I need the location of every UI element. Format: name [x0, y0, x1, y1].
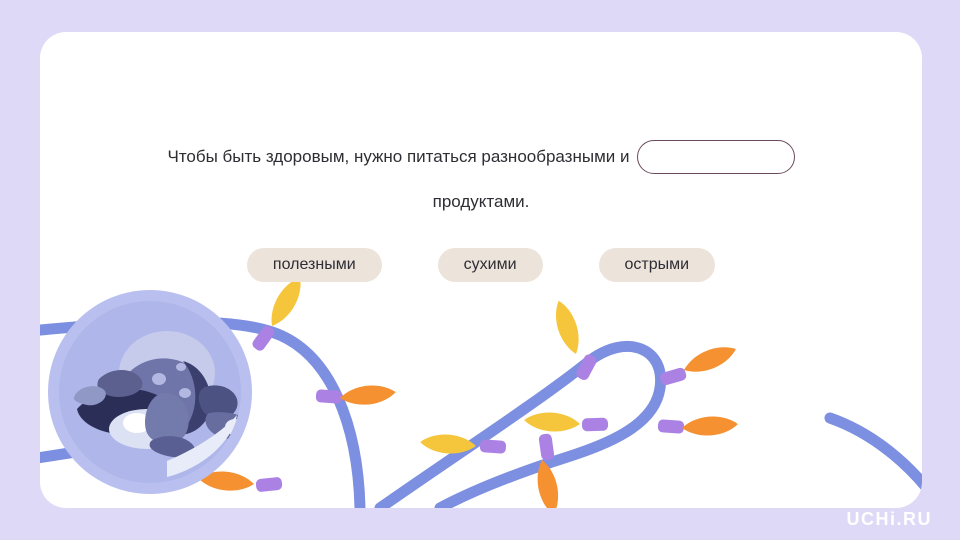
option-chip-3[interactable]: острыми	[599, 248, 716, 282]
watermark-logo: UCHi.RU	[847, 509, 933, 530]
leaf-group-right	[419, 298, 739, 508]
badge-disc	[59, 301, 241, 483]
question-line-1: Чтобы быть здоровым, нужно питаться разн…	[40, 140, 922, 174]
option-chip-2[interactable]: сухими	[438, 248, 543, 282]
question-line-2: продуктами.	[40, 192, 922, 212]
option-chip-1[interactable]: полезными	[247, 248, 382, 282]
food-basket-icon	[59, 301, 241, 483]
answer-options: полезными сухими острыми	[40, 248, 922, 282]
screen: Чтобы быть здоровым, нужно питаться разн…	[0, 0, 960, 540]
stem-right-arc	[830, 418, 922, 508]
answer-blank-slot[interactable]	[637, 140, 795, 174]
question-block: Чтобы быть здоровым, нужно питаться разн…	[40, 140, 922, 212]
stem-right-loop	[380, 346, 661, 508]
illustration-badge	[48, 290, 252, 494]
exercise-card: Чтобы быть здоровым, нужно питаться разн…	[40, 32, 922, 508]
question-text: Чтобы быть здоровым, нужно питаться разн…	[167, 146, 629, 168]
